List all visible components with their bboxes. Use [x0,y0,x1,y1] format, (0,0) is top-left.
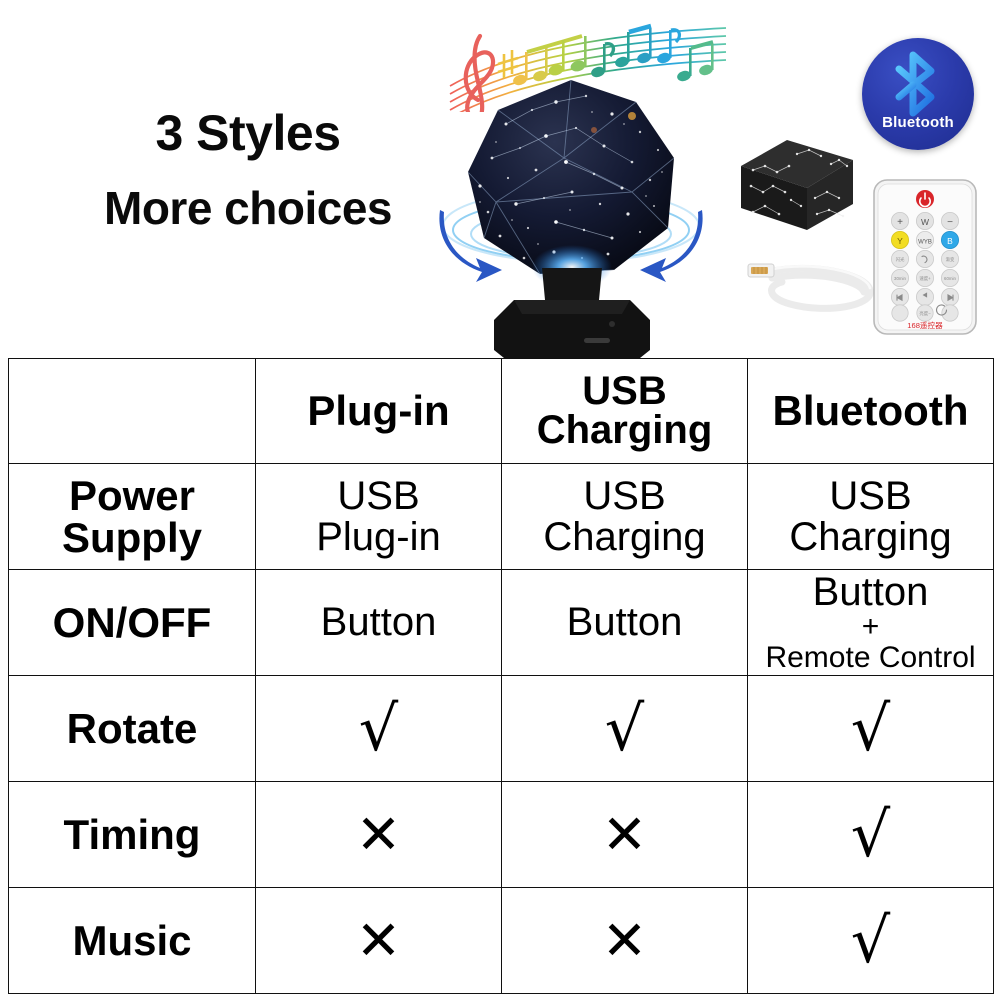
cell-line: USB [256,476,501,517]
cell-rotate-bluetooth: √ [748,676,994,782]
header-cell-plug-in: Plug-in [256,359,502,464]
cell-music-usb-charging: ✕ [502,888,748,994]
svg-text:B: B [947,236,953,246]
cell-line-remote: Remote Control [748,643,993,674]
cell-line: Button [748,572,993,613]
table-row: Music ✕ ✕ √ [9,888,994,994]
svg-text:−: − [947,217,953,228]
cell-power-supply-plug-in: USB Plug-in [256,464,502,570]
row-label-line: Power [9,475,255,517]
remote-footer-label: 168遥控器 [907,320,943,330]
cell-on-off-plug-in: Button [256,570,502,676]
row-label-line: Rotate [9,708,255,750]
specs-comparison-table: Plug-in USB Charging Bluetooth Power Sup… [8,358,994,994]
row-label-on-off: ON/OFF [9,570,256,676]
bluetooth-badge-label: Bluetooth [862,114,974,131]
row-label-music: Music [9,888,256,994]
header-label-charging: Charging [502,411,747,450]
cell-line: USB [502,476,747,517]
bluetooth-badge: Bluetooth [862,38,974,150]
cell-power-supply-bluetooth: USB Charging [748,464,994,570]
svg-text:60min: 60min [944,276,957,281]
cell-line: Charging [748,517,993,558]
cell-line-plus: + [748,612,993,643]
header-label-usb: USB [502,372,747,411]
cell-line: Button [256,602,501,643]
check-mark-icon: √ [851,904,891,977]
cell-timing-plug-in: ✕ [256,782,502,888]
cross-mark-icon: ✕ [356,808,401,862]
cell-rotate-usb-charging: √ [502,676,748,782]
svg-text:亮度−: 亮度− [919,310,931,317]
cell-music-bluetooth: √ [748,888,994,994]
check-mark-icon: √ [851,692,891,765]
hero-banner: 3 Styles More choices [0,0,1000,358]
svg-text:Y: Y [897,236,903,246]
usb-cable-image [742,248,882,322]
cell-on-off-usb-charging: Button [502,570,748,676]
header-cell-usb-charging: USB Charging [502,359,748,464]
row-label-power-supply: Power Supply [9,464,256,570]
row-label-line: Music [9,920,255,962]
svg-text:WYB: WYB [918,240,932,246]
row-label-line: Timing [9,814,255,856]
table-row: ON/OFF Button Button Button + Remote Con… [9,570,994,676]
cell-line: Plug-in [256,517,501,558]
header-cell-empty [9,359,256,464]
svg-text:闪光: 闪光 [896,256,905,263]
cell-timing-usb-charging: ✕ [502,782,748,888]
check-mark-icon: √ [359,692,399,765]
cell-line: Button [502,602,747,643]
check-mark-icon: √ [605,692,645,765]
header-label-plug-in: Plug-in [256,390,501,431]
constellation-gift-box-image [735,126,857,242]
bluetooth-icon [889,51,947,117]
row-label-timing: Timing [9,782,256,888]
cell-timing-bluetooth: √ [748,782,994,888]
row-label-line: ON/OFF [9,602,255,644]
headline-line-2: More choices [48,185,448,231]
cell-line: USB [748,476,993,517]
header-cell-bluetooth: Bluetooth [748,359,994,464]
cell-rotate-plug-in: √ [256,676,502,782]
row-label-line: Supply [9,517,255,559]
cross-mark-icon: ✕ [602,914,647,968]
cell-on-off-bluetooth: Button + Remote Control [748,570,994,676]
cross-mark-icon: ✕ [356,914,401,968]
svg-text:30min: 30min [894,276,907,281]
table-row: Rotate √ √ √ [9,676,994,782]
cell-music-plug-in: ✕ [256,888,502,994]
header-label-bluetooth: Bluetooth [748,390,993,431]
cell-power-supply-usb-charging: USB Charging [502,464,748,570]
star-projector-lamp-image [436,62,706,358]
ir-remote-control-image: + W − Y WYB B 闪光 [872,178,978,336]
svg-text:W: W [921,217,929,227]
table-header-row: Plug-in USB Charging Bluetooth [9,359,994,464]
svg-text:+: + [897,217,903,228]
check-mark-icon: √ [851,798,891,871]
table-row: Power Supply USB Plug-in USB Charging US… [9,464,994,570]
row-label-rotate: Rotate [9,676,256,782]
table-row: Timing ✕ ✕ √ [9,782,994,888]
headline-line-1: 3 Styles [48,108,448,158]
cross-mark-icon: ✕ [602,808,647,862]
svg-text:渐变: 渐变 [946,256,955,263]
svg-text:速度+: 速度+ [919,275,931,282]
cell-line: Charging [502,517,747,558]
